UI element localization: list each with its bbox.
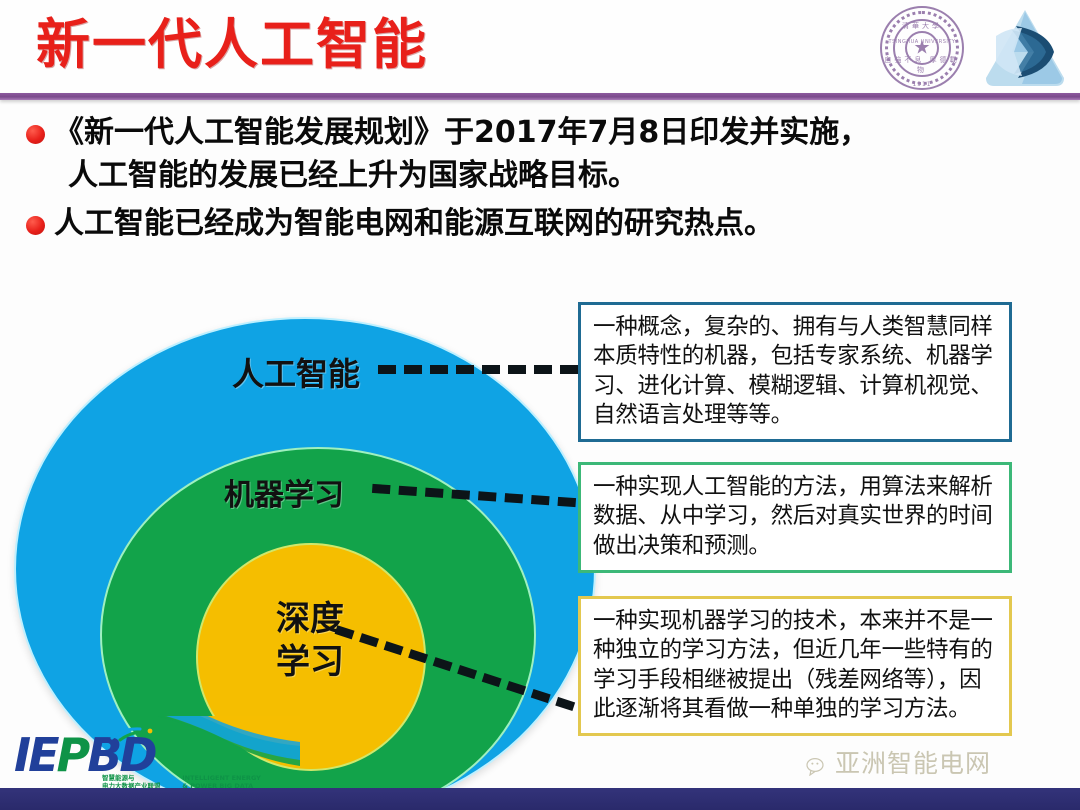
wechat-bubble-icon (806, 753, 830, 772)
bullet-text-2: 人工智能已经成为智能电网和能源互联网的研究热点。 (54, 203, 774, 246)
slide-header: 新一代人工智能 清華大學 TSINGHUA UNIVERSITY ★ 自強不息 … (0, 0, 1080, 95)
iepbd-swoosh-icon (110, 726, 156, 742)
bullet-item-1: 《新一代人工智能发展规划》于2017年7月8日印发并实施， 人工智能的发展已经上… (26, 112, 1056, 197)
slide: 新一代人工智能 清華大學 TSINGHUA UNIVERSITY ★ 自強不息 … (0, 0, 1080, 810)
info-box-ml: 一种实现人工智能的方法，用算法来解析数据、从中学习，然后对真实世界的时间做出决策… (578, 462, 1012, 573)
iepbd-mark-p: P (57, 728, 88, 782)
bullet-dot-icon (26, 216, 45, 235)
info-box-dl: 一种实现机器学习的技术，本来并不是一种独立的学习方法，但近几年一些特有的学习手段… (578, 596, 1012, 736)
bullet-2-line-1: 人工智能已经成为智能电网和能源互联网的研究热点。 (54, 206, 774, 241)
wechat-watermark-text: 亚洲智能电网 (835, 744, 991, 780)
seal-cn-bottom: 自強不息 厚德載物 (880, 55, 964, 75)
bullet-dot-icon (26, 125, 45, 144)
iepbd-sub-cn-1: 智慧能源与 (102, 774, 180, 782)
seal-year: 1911 (880, 81, 964, 88)
bullet-1-line-2: 人工智能的发展已经上升为国家战略目标。 (68, 155, 869, 198)
bullet-item-2: 人工智能已经成为智能电网和能源互联网的研究热点。 (26, 203, 1056, 246)
wechat-watermark: 亚洲智能电网 (806, 744, 991, 780)
logo-group: 清華大學 TSINGHUA UNIVERSITY ★ 自強不息 厚德載物 191… (880, 4, 1068, 92)
iepbd-sub-en-1: INTELLIGENT ENERGY (182, 774, 261, 782)
seal-cn-top: 清華大學 (880, 21, 964, 31)
info-box-ai: 一种概念，复杂的、拥有与人类智慧同样本质特性的机器，包括专家系统、机器学习、进化… (578, 302, 1012, 442)
page-title: 新一代人工智能 (36, 14, 428, 76)
venn-label-dl-line-2: 学习 (245, 641, 375, 684)
bullet-text-1: 《新一代人工智能发展规划》于2017年7月8日印发并实施， 人工智能的发展已经上… (54, 112, 869, 197)
venn-label-ai: 人工智能 (232, 349, 360, 395)
iepbd-mark-ie: IE (14, 728, 57, 782)
connector-dash-ai (378, 365, 578, 374)
iepbd-logo: IEPBD 智慧能源与 电力大数据产业联盟 INTELLIGENT ENERGY… (14, 732, 264, 794)
blue-triangle-logo-icon (982, 6, 1068, 90)
venn-label-ml: 机器学习 (224, 470, 344, 514)
header-divider (0, 93, 1080, 100)
tsinghua-seal-icon: 清華大學 TSINGHUA UNIVERSITY ★ 自強不息 厚德載物 191… (880, 6, 964, 90)
bullet-1-line-1: 《新一代人工智能发展规划》于2017年7月8日印发并实施， (54, 115, 869, 150)
bullet-list: 《新一代人工智能发展规划》于2017年7月8日印发并实施， 人工智能的发展已经上… (26, 112, 1056, 252)
footer-bar (0, 788, 1080, 810)
